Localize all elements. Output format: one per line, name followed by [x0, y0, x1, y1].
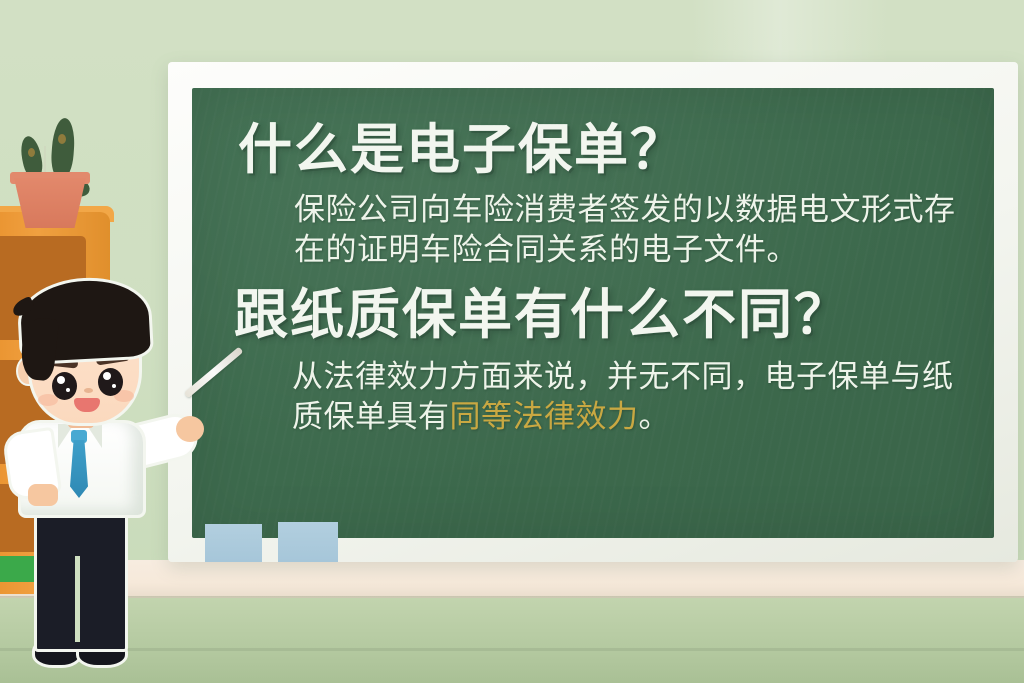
eye-highlight	[103, 372, 111, 380]
wall-ledge	[0, 560, 1024, 598]
eye-right	[98, 368, 123, 396]
trouser-leg-gap	[75, 556, 80, 642]
paragraph-legal-effect: 从法律效力方面来说，并无不同，电子保单与纸质保单具有同等法律效力。	[232, 357, 962, 438]
paragraph-definition: 保险公司向车险消费者签发的以数据电文形式存在的证明车险合同关系的电子文件。	[232, 190, 962, 271]
plant-leaf-marking	[28, 148, 35, 157]
floor	[0, 598, 1024, 683]
heading-what-is-e-policy: 什么是电子保单？	[238, 122, 962, 178]
illustration-scene: 什么是电子保单？ 保险公司向车险消费者签发的以数据电文形式存在的证明车险合同关系…	[0, 0, 1024, 683]
eye-highlight	[112, 384, 116, 388]
highlight-same-legal-effect: 同等法律效力	[450, 399, 639, 434]
eye-left	[52, 372, 77, 400]
hand-right	[176, 416, 204, 442]
chalk-eraser-block	[278, 522, 338, 562]
chalk-eraser-block	[205, 524, 262, 562]
floor-seam-line	[0, 648, 1024, 651]
trousers	[34, 500, 128, 652]
heading-difference-from-paper-policy: 跟纸质保单有什么不同？	[234, 287, 962, 343]
paragraph-legal-effect-tail: 。	[639, 399, 671, 434]
nose	[84, 388, 93, 393]
blackboard-text-content: 什么是电子保单？ 保险公司向车险消费者签发的以数据电文形式存在的证明车险合同关系…	[232, 122, 962, 438]
flower-pot	[14, 178, 86, 228]
eye-highlight	[57, 376, 65, 384]
hand-left-on-hip	[28, 484, 58, 506]
eye-highlight	[66, 388, 70, 392]
plant-leaf-marking	[58, 134, 66, 144]
